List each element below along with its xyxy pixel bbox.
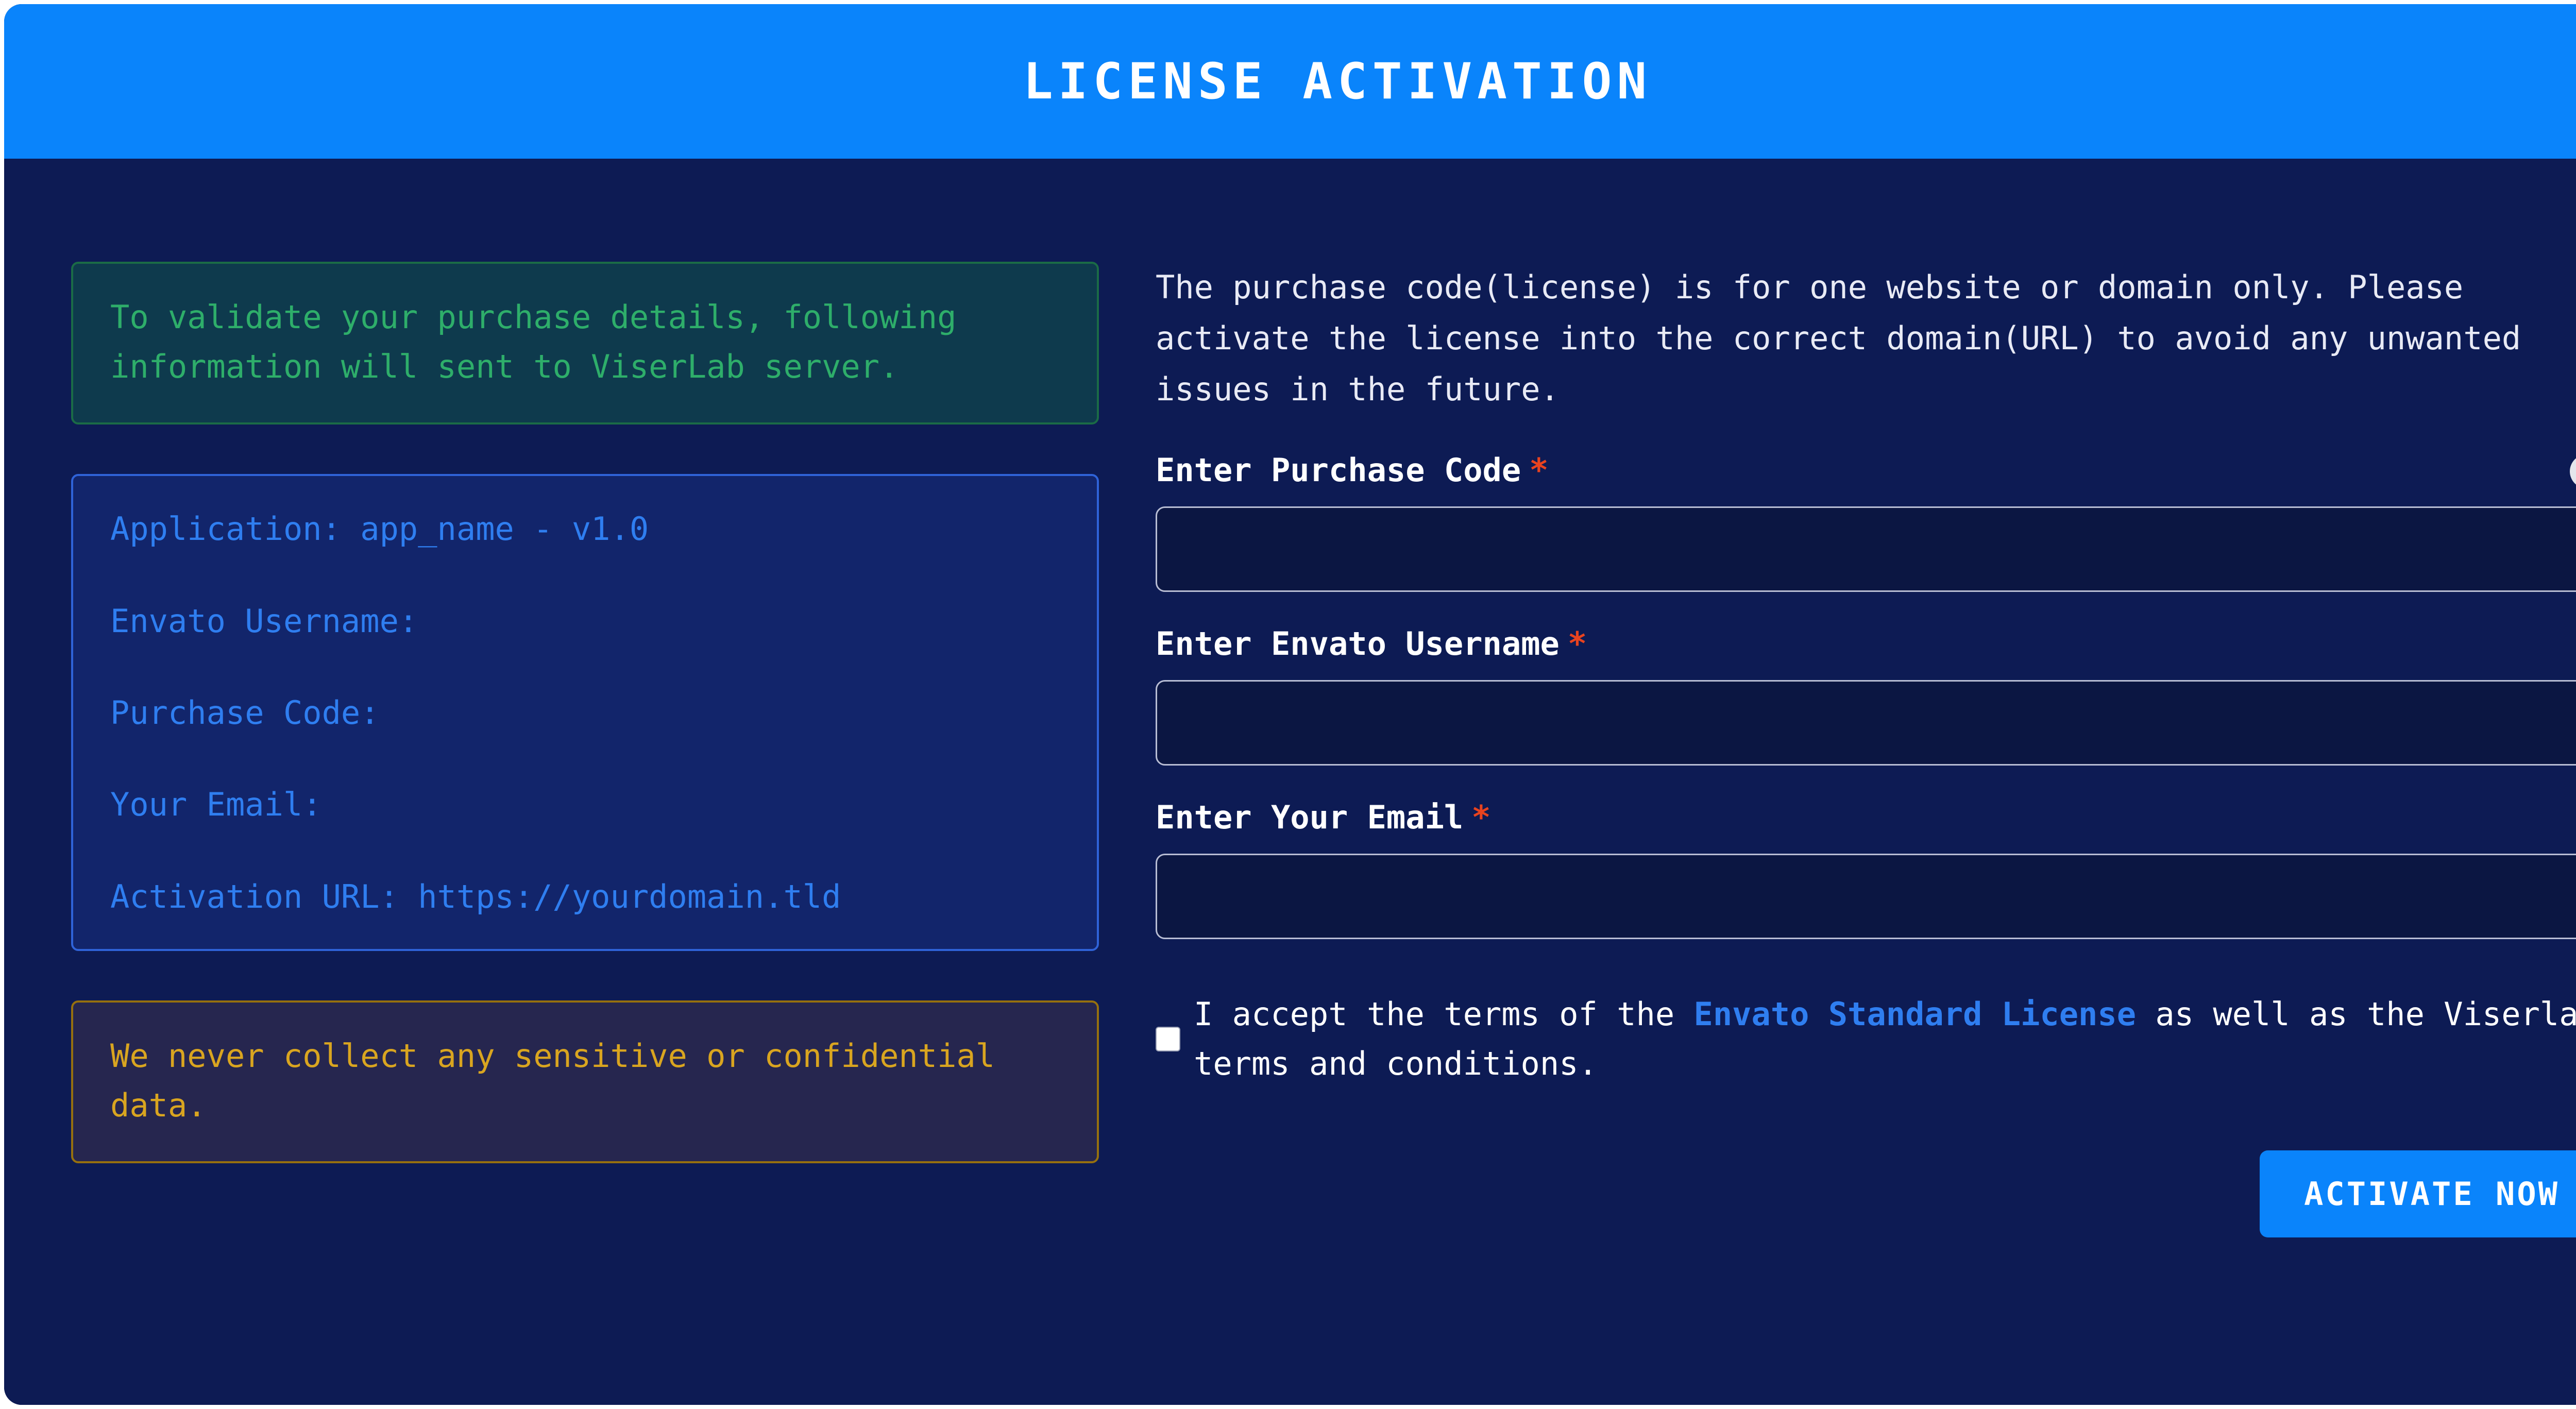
required-asterisk: * bbox=[1568, 625, 1587, 663]
left-column: To validate your purchase details, follo… bbox=[71, 262, 1099, 1405]
card-body: To validate your purchase details, follo… bbox=[4, 159, 2576, 1405]
required-asterisk: * bbox=[1471, 799, 1490, 836]
terms-text-before: I accept the terms of the bbox=[1194, 995, 1694, 1033]
detail-application: Application: app_name - v1.0 bbox=[110, 510, 1060, 548]
envato-username-label: Enter Envato Username bbox=[1156, 625, 1560, 663]
detail-activation-url: Activation URL: https://yourdomain.tld bbox=[110, 878, 1060, 916]
purchase-code-label-wrap: Enter Purchase Code* bbox=[1156, 451, 1549, 489]
privacy-notice-text: We never collect any sensitive or confid… bbox=[110, 1031, 1060, 1130]
submit-row: ACTIVATE NOW bbox=[1156, 1150, 2576, 1237]
card-header: LICENSE ACTIVATION bbox=[4, 4, 2576, 159]
validation-notice-box: To validate your purchase details, follo… bbox=[71, 262, 1099, 425]
envato-username-label-row: Enter Envato Username* bbox=[1156, 625, 2576, 663]
info-icon[interactable]: i bbox=[2570, 454, 2576, 488]
purchase-code-input[interactable] bbox=[1156, 506, 2576, 592]
detail-envato-username: Envato Username: bbox=[110, 602, 1060, 640]
right-column: The purchase code(license) is for one we… bbox=[1156, 262, 2576, 1405]
envato-standard-license-link[interactable]: Envato Standard License bbox=[1694, 995, 2137, 1033]
envato-username-label-wrap: Enter Envato Username* bbox=[1156, 625, 1587, 663]
page-title: LICENSE ACTIVATION bbox=[1023, 57, 1652, 106]
required-asterisk: * bbox=[1529, 451, 1548, 489]
email-input[interactable] bbox=[1156, 854, 2576, 939]
activate-now-button[interactable]: ACTIVATE NOW bbox=[2260, 1150, 2576, 1237]
purchase-code-label: Enter Purchase Code bbox=[1156, 451, 1521, 489]
terms-checkbox[interactable] bbox=[1156, 1027, 1180, 1051]
detail-purchase-code: Purchase Code: bbox=[110, 694, 1060, 732]
terms-text: I accept the terms of the Envato Standar… bbox=[1194, 990, 2576, 1089]
email-label: Enter Your Email bbox=[1156, 799, 1463, 836]
envato-username-input[interactable] bbox=[1156, 680, 2576, 766]
validation-notice-text: To validate your purchase details, follo… bbox=[110, 293, 1060, 392]
license-intro-text: The purchase code(license) is for one we… bbox=[1156, 262, 2576, 415]
detail-your-email: Your Email: bbox=[110, 786, 1060, 824]
privacy-notice-box: We never collect any sensitive or confid… bbox=[71, 1000, 1099, 1163]
terms-acceptance-row: I accept the terms of the Envato Standar… bbox=[1156, 990, 2576, 1089]
page-background: LICENSE ACTIVATION To validate your purc… bbox=[0, 0, 2576, 1409]
license-activation-card: LICENSE ACTIVATION To validate your purc… bbox=[4, 4, 2576, 1405]
email-label-wrap: Enter Your Email* bbox=[1156, 799, 1491, 836]
email-label-row: Enter Your Email* bbox=[1156, 799, 2576, 836]
purchase-code-label-row: Enter Purchase Code* i bbox=[1156, 451, 2576, 489]
purchase-details-box: Application: app_name - v1.0 Envato User… bbox=[71, 474, 1099, 951]
